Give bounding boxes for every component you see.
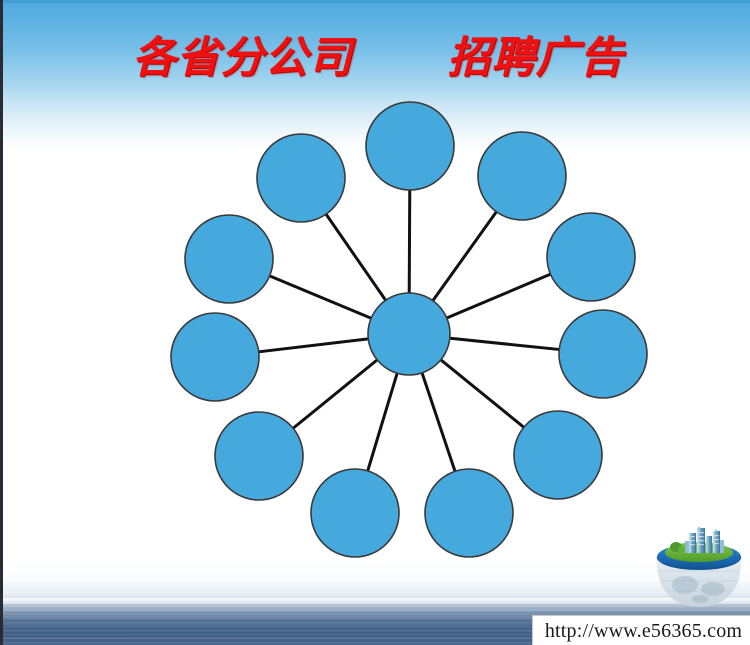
branch-node-1[interactable] [366, 102, 454, 190]
branch-node-2[interactable] [478, 132, 566, 220]
diagram-svg [3, 0, 750, 645]
branch-node-5[interactable] [514, 411, 602, 499]
spoke-line-1 [409, 188, 410, 295]
spoke-line-5 [439, 359, 525, 429]
branch-node-3[interactable] [547, 213, 635, 301]
spoke-line-10 [268, 275, 373, 319]
globe-city-icon [651, 527, 747, 613]
spoke-line-7 [367, 371, 398, 472]
spoke-line-4 [448, 338, 561, 350]
branch-node-9[interactable] [171, 313, 259, 401]
spoke-line-9 [257, 339, 371, 352]
spoke-line-2 [432, 210, 498, 302]
page-title: 各省分公司 招聘广告 [3, 33, 750, 83]
spoke-line-3 [445, 273, 552, 318]
poster-canvas: 各省分公司 招聘广告 [0, 0, 750, 645]
hub-node[interactable] [368, 293, 450, 375]
hub-and-spoke-diagram [3, 0, 750, 645]
branch-node-6[interactable] [425, 469, 513, 557]
title-part-recruitment: 招聘广告 [447, 33, 623, 83]
branch-node-8[interactable] [215, 412, 303, 500]
branch-node-7[interactable] [311, 469, 399, 557]
branch-node-10[interactable] [185, 215, 273, 303]
hub-node-group [368, 293, 450, 375]
watermark-url-text: http://www.e56365.com [545, 620, 742, 642]
branch-node-11[interactable] [257, 134, 345, 222]
title-part-company: 各省分公司 [133, 33, 353, 83]
spoke-line-8 [292, 359, 379, 430]
spoke-line-6 [421, 371, 455, 473]
spoke-line-11 [325, 213, 387, 302]
branch-node-4[interactable] [559, 310, 647, 398]
watermark-url-box: http://www.e56365.com [532, 615, 750, 645]
